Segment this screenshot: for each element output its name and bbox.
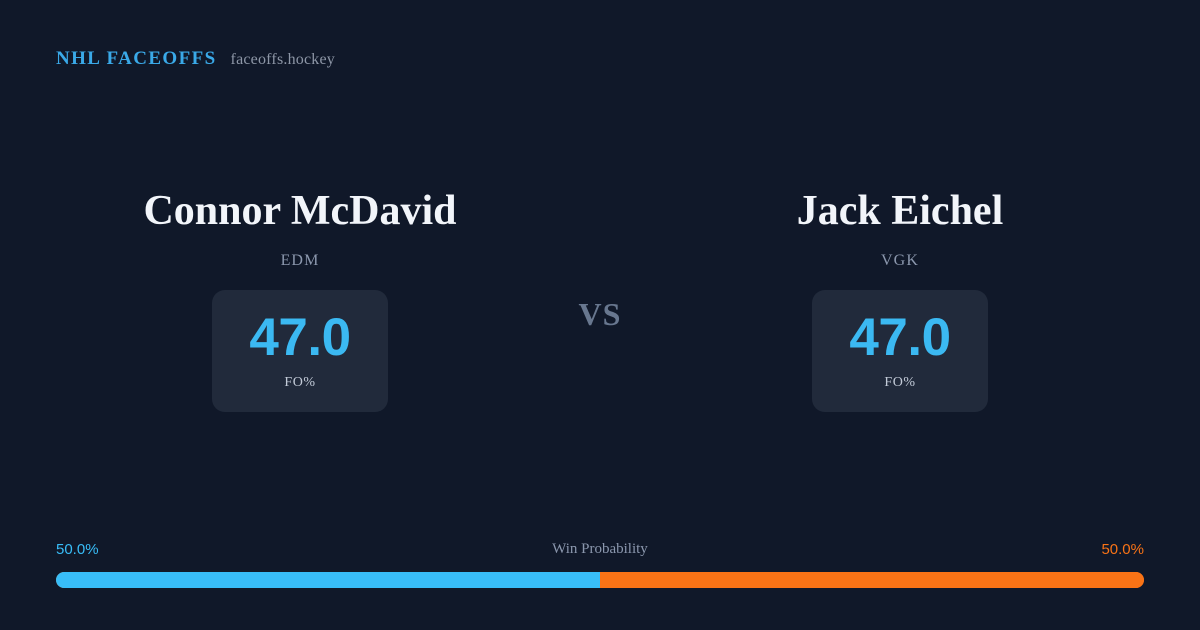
player-team-right: VGK xyxy=(881,252,919,270)
win-probability-bar-left-segment xyxy=(56,572,600,588)
stat-value-right: 47.0 xyxy=(849,311,950,364)
matchup-section: Connor McDavid EDM 47.0 FO% VS Jack Eich… xyxy=(0,190,1200,435)
brand-title: NHL FACEOFFS xyxy=(56,48,217,70)
win-probability-bar xyxy=(56,572,1144,588)
win-probability-title: Win Probability xyxy=(56,541,1144,558)
win-probability-right-value: 50.0% xyxy=(1101,541,1144,558)
brand-domain: faceoffs.hockey xyxy=(231,51,335,69)
stat-card-right: 47.0 FO% xyxy=(812,290,988,412)
player-name-right: Jack Eichel xyxy=(797,190,1004,232)
win-probability-labels: 50.0% Win Probability 50.0% xyxy=(56,541,1144,563)
win-probability-bar-right-segment xyxy=(600,572,1144,588)
win-probability-section: 50.0% Win Probability 50.0% xyxy=(56,541,1144,588)
site-header: NHL FACEOFFS faceoffs.hockey xyxy=(56,48,335,70)
stat-label-left: FO% xyxy=(284,375,315,391)
player-card-right: Jack Eichel VGK 47.0 FO% xyxy=(680,190,1120,412)
stat-label-right: FO% xyxy=(884,375,915,391)
